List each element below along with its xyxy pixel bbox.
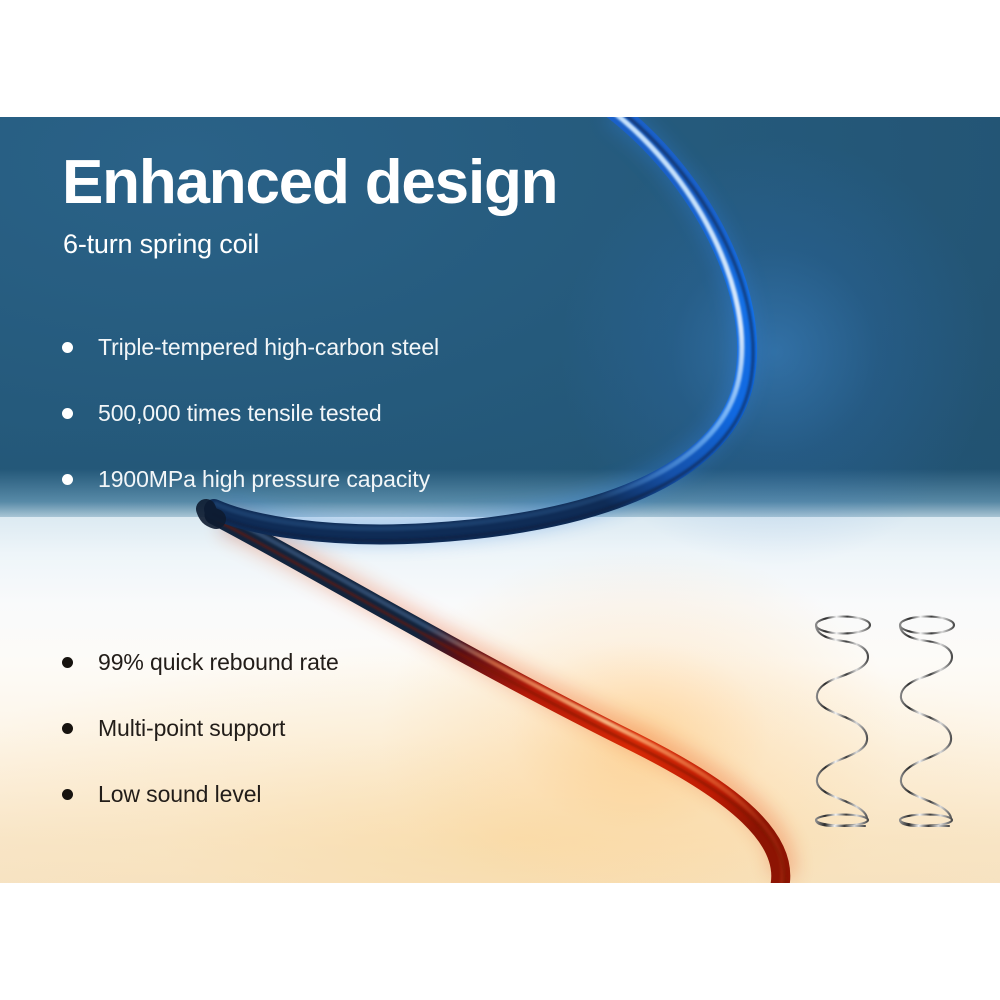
list-item: 1900MPa high pressure capacity	[62, 446, 439, 512]
spring-coil-pair-icon	[805, 612, 970, 842]
bullet-dot-icon	[62, 657, 73, 668]
product-feature-banner: Enhanced design 6-turn spring coil Tripl…	[0, 0, 1000, 1000]
feature-label: Triple-tempered high-carbon steel	[98, 334, 439, 361]
page-title: Enhanced design	[62, 152, 557, 214]
feature-label: Low sound level	[98, 781, 261, 808]
feature-label: 500,000 times tensile tested	[98, 400, 382, 427]
list-item: 500,000 times tensile tested	[62, 380, 439, 446]
bottom-feature-list: 99% quick rebound rate Multi-point suppo…	[62, 629, 339, 827]
content-band: Enhanced design 6-turn spring coil Tripl…	[0, 117, 1000, 883]
list-item: 99% quick rebound rate	[62, 629, 339, 695]
bullet-dot-icon	[62, 723, 73, 734]
bullet-dot-icon	[62, 342, 73, 353]
list-item: Low sound level	[62, 761, 339, 827]
feature-label: 1900MPa high pressure capacity	[98, 466, 430, 493]
bullet-dot-icon	[62, 408, 73, 419]
page-subtitle: 6-turn spring coil	[63, 229, 259, 260]
list-item: Triple-tempered high-carbon steel	[62, 314, 439, 380]
bullet-dot-icon	[62, 474, 73, 485]
bullet-dot-icon	[62, 789, 73, 800]
feature-label: Multi-point support	[98, 715, 285, 742]
list-item: Multi-point support	[62, 695, 339, 761]
top-feature-list: Triple-tempered high-carbon steel 500,00…	[62, 314, 439, 512]
feature-label: 99% quick rebound rate	[98, 649, 339, 676]
